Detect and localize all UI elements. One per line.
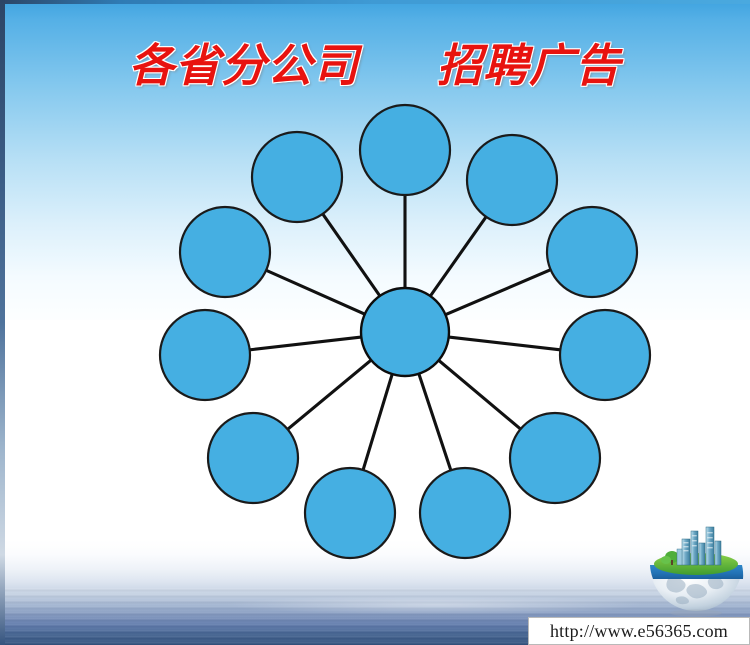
radial-hub-diagram <box>0 0 750 645</box>
globe-shadow <box>670 610 722 617</box>
node-bottom-left-inner[interactable] <box>305 468 395 558</box>
spoke-to-node-bottom-right <box>438 360 521 430</box>
globe-city-logo <box>644 521 748 617</box>
hub-circle-group <box>361 288 449 376</box>
spoke-to-node-top-left <box>322 213 380 297</box>
spoke-to-node-left <box>249 337 363 350</box>
spoke-to-node-bottom-right-inner <box>419 373 452 471</box>
node-top-left[interactable] <box>252 132 342 222</box>
spoke-to-node-right-upper <box>445 269 552 315</box>
center-hub[interactable] <box>361 288 449 376</box>
node-bottom-left[interactable] <box>208 413 298 503</box>
node-bottom-right-inner[interactable] <box>420 468 510 558</box>
node-left[interactable] <box>160 310 250 400</box>
node-top-right[interactable] <box>467 135 557 225</box>
node-top[interactable] <box>360 105 450 195</box>
spoke-to-node-top-right <box>430 216 487 297</box>
node-left-upper[interactable] <box>180 207 270 297</box>
spoke-to-node-bottom-left-inner <box>363 373 393 471</box>
node-bottom-right[interactable] <box>510 413 600 503</box>
slide-canvas: 各省分公司 招聘广告 <box>0 0 750 645</box>
watermark-url: http://www.e56365.com <box>550 621 728 642</box>
spoke-to-node-right <box>448 337 562 350</box>
spoke-to-node-bottom-left <box>287 359 372 429</box>
node-right[interactable] <box>560 310 650 400</box>
spoke-to-node-left-upper <box>265 270 365 315</box>
watermark-box: http://www.e56365.com <box>528 617 750 645</box>
node-right-upper[interactable] <box>547 207 637 297</box>
